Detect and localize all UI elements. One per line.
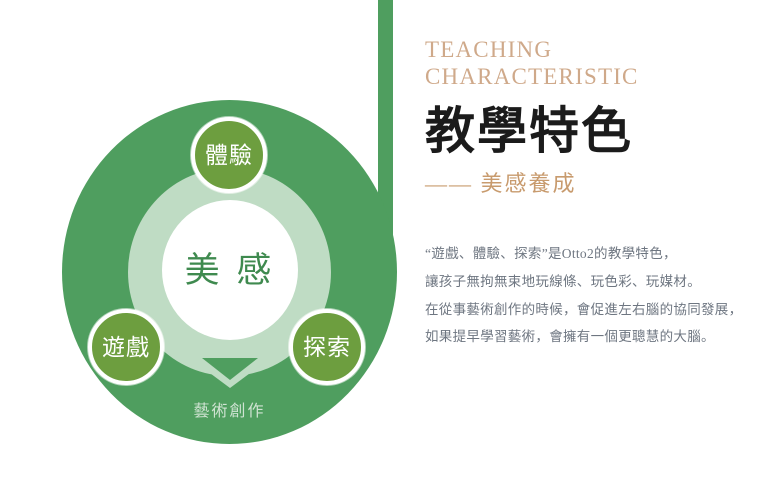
core-circle: 美 感	[162, 200, 298, 340]
diagram-bottom-label: 藝術創作	[62, 397, 397, 421]
body-line: “遊戲、體驗、探索”是Otto2的教學特色，	[425, 240, 765, 268]
core-label: 美 感	[185, 253, 276, 288]
page-title: 教學特色	[425, 104, 765, 158]
content-column: TEACHING CHARACTERISTIC 教學特色 —— 美感養成 “遊戲…	[425, 36, 765, 351]
node-bubble-experience[interactable]: 體驗	[191, 117, 267, 193]
body-paragraph: “遊戲、體驗、探索”是Otto2的教學特色， 讓孩子無拘無束地玩線條、玩色彩、玩…	[425, 240, 765, 351]
body-line: 如果提早學習藝術，會擁有一個更聰慧的大腦。	[425, 323, 765, 351]
node-label-play: 遊戲	[102, 336, 150, 359]
page-subtitle: —— 美感養成	[425, 166, 765, 198]
node-bubble-play[interactable]: 遊戲	[88, 309, 164, 385]
body-line: 在從事藝術創作的時候，會促進左右腦的協同發展，	[425, 296, 765, 324]
concept-circle-diagram: 美 感 體驗 遊戲 探索 藝術創作	[62, 100, 397, 444]
body-line: 讓孩子無拘無束地玩線條、玩色彩、玩媒材。	[425, 268, 765, 296]
node-label-experience: 體驗	[205, 144, 253, 167]
node-label-explore: 探索	[303, 336, 351, 359]
node-bubble-explore[interactable]: 探索	[289, 309, 365, 385]
inner-ring-notch-cut	[202, 358, 258, 380]
eyebrow-heading: TEACHING CHARACTERISTIC	[425, 36, 765, 90]
